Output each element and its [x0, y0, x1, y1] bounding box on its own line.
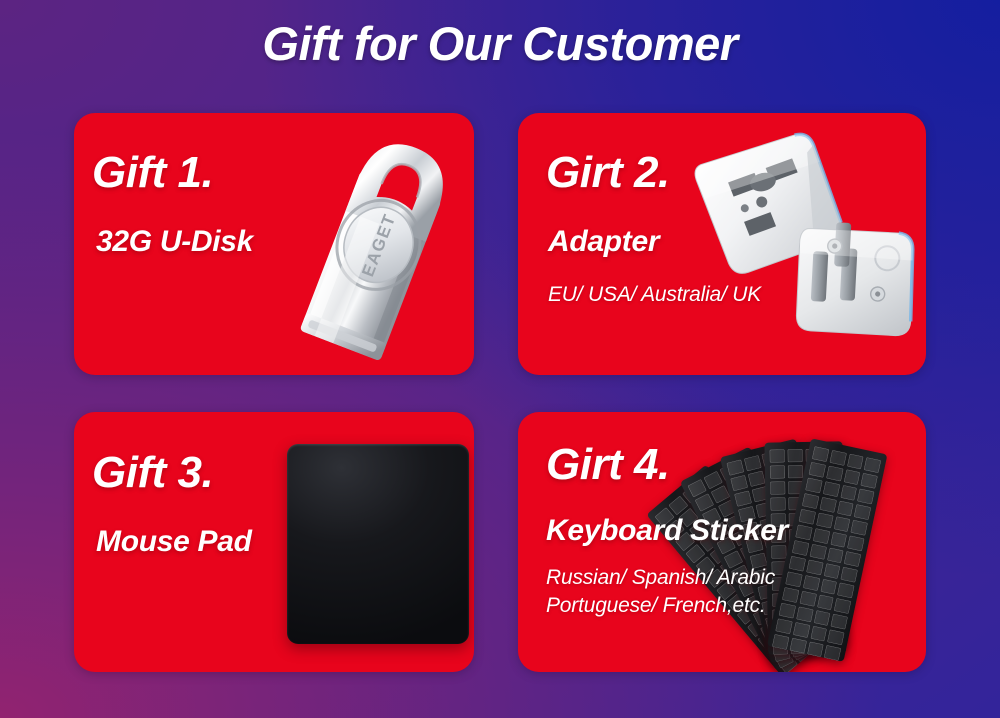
mouse-pad-icon — [287, 444, 469, 644]
gift-card-3-heading: Gift 3. — [92, 450, 213, 496]
gift-card-4[interactable]: Girt 4. Keyboard Sticker Russian/ Spanis… — [518, 412, 926, 672]
gift-promo-banner: Gift for Our Customer — [0, 0, 1000, 718]
page-title: Gift for Our Customer — [0, 17, 1000, 72]
gift-card-4-name: Keyboard Sticker — [546, 514, 788, 547]
gift-card-1-heading: Gift 1. — [92, 150, 213, 196]
gift-card-1-name: 32G U-Disk — [96, 225, 253, 258]
usb-flash-drive-icon: EAGET — [288, 129, 468, 369]
gift-card-2-detail: EU/ USA/ Australia/ UK — [548, 281, 761, 309]
gift-card-2[interactable]: Girt 2. Adapter EU/ USA/ Australia/ UK — [518, 113, 926, 375]
gift-card-2-name: Adapter — [548, 225, 659, 258]
gift-card-4-detail-line-2: Portuguese/ French,etc. — [546, 592, 775, 620]
power-adapter-icon — [678, 121, 926, 346]
gift-card-4-heading: Girt 4. — [546, 442, 670, 488]
gift-card-1[interactable]: EAGET Gift 1. 32G U-Disk — [74, 113, 474, 375]
gift-card-2-heading: Girt 2. — [546, 150, 670, 196]
gift-card-4-detail-line-1: Russian/ Spanish/ Arabic — [546, 564, 775, 592]
gift-card-4-detail: Russian/ Spanish/ Arabic Portuguese/ Fre… — [546, 564, 775, 620]
gift-card-3[interactable]: Gift 3. Mouse Pad — [74, 412, 474, 672]
gift-card-3-name: Mouse Pad — [96, 525, 252, 558]
